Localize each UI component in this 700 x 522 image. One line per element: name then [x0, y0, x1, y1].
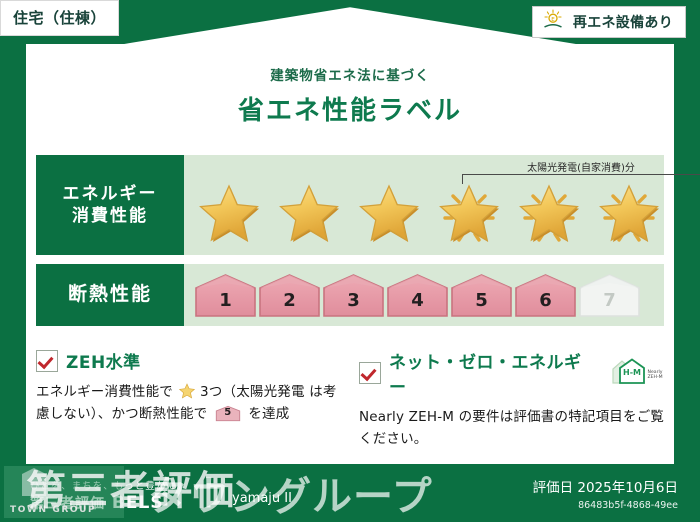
- insulation-rating-panel: 1 2: [184, 264, 664, 326]
- zeh-text-part1: エネルギー消費性能で: [36, 384, 173, 400]
- svg-text:H-M: H-M: [623, 368, 641, 377]
- zeh-m-logo-icon: H-M Nearly ZEH-M: [610, 356, 666, 390]
- net-zero-heading: ネット・ゼロ・エネルギー H-M Nearly ZEH-M: [359, 348, 666, 398]
- house-icon-active: 5: [450, 272, 513, 318]
- energy-rating-panel: 太陽光発電(自家消費)分: [184, 155, 664, 255]
- house-level-number: 6: [514, 290, 577, 311]
- house-icon-active: 2: [258, 272, 321, 318]
- energy-label-line1: エネルギー: [63, 183, 158, 205]
- zeh-text-part4: を達成: [248, 406, 289, 422]
- star-icon-solar: [510, 177, 588, 251]
- house-icon-active: 6: [514, 272, 577, 318]
- house-level-number: 2: [258, 290, 321, 311]
- page-title: 省エネ性能ラベル: [0, 90, 700, 127]
- house-icon-active: 4: [386, 272, 449, 318]
- house-level-number: 7: [578, 290, 641, 311]
- statement-zeh: ZEH水準 エネルギー消費性能で 3つ（太陽光発電 は考慮しない）、かつ断熱性能…: [36, 348, 343, 451]
- inline-house-icon: 5: [215, 405, 241, 422]
- evaluation-date-value: 2025年10月6日: [577, 480, 678, 496]
- zeh-title: ZEH水準: [66, 348, 141, 373]
- zeh-text-part2: 3つ（太陽光発電: [200, 384, 305, 400]
- house-level-number: 5: [450, 290, 513, 311]
- insulation-performance-label: 断熱性能: [36, 264, 184, 326]
- house-icon-active: 3: [322, 272, 385, 318]
- evaluation-date: 評価日 2025年10月6日: [533, 476, 678, 496]
- star-rating: [184, 177, 670, 251]
- energy-label-card: 住宅（住棟） E 再エネ設備あり 建築物省エネ法に基づく 省エネ性能ラベル: [0, 0, 700, 522]
- inline-house-number: 5: [215, 405, 241, 421]
- sun-icon: E: [542, 9, 566, 35]
- zeh-heading: ZEH水準: [36, 348, 343, 373]
- statement-net-zero: ネット・ゼロ・エネルギー H-M Nearly ZEH-M Nearly ZEH…: [359, 348, 666, 451]
- energy-label-line2: 消費性能: [72, 205, 148, 227]
- energy-performance-label: エネルギー 消費性能: [36, 155, 184, 255]
- star-icon: [270, 177, 348, 251]
- evaluation-date-label: 評価日: [533, 480, 574, 496]
- house-level-number: 3: [322, 290, 385, 311]
- net-zero-title: ネット・ゼロ・エネルギー: [389, 348, 598, 398]
- house-rating: 1 2: [184, 272, 641, 318]
- footer-right: 評価日 2025年10月6日 86483b5f-4868-49ee: [533, 476, 678, 511]
- net-zero-description: Nearly ZEH-M の要件は評価書の特記項目をご覧ください。: [359, 407, 666, 451]
- house-level-number: 1: [194, 290, 257, 311]
- insulation-performance-row: 断熱性能 1: [36, 264, 664, 326]
- renewable-energy-badge: E 再エネ設備あり: [532, 6, 686, 38]
- svg-text:ZEH-M: ZEH-M: [647, 374, 662, 380]
- evaluation-id: 86483b5f-4868-49ee: [533, 500, 678, 511]
- star-icon-solar: [590, 177, 668, 251]
- watermark-text-secondary: タウングループ: [148, 464, 433, 522]
- house-icon-active: 1: [194, 272, 257, 318]
- title-block: 建築物省エネ法に基づく 省エネ性能ラベル: [0, 64, 700, 127]
- house-icon-inactive: 7: [578, 272, 641, 318]
- renewable-energy-label: 再エネ設備あり: [573, 12, 673, 32]
- statements-section: ZEH水準 エネルギー消費性能で 3つ（太陽光発電 は考慮しない）、かつ断熱性能…: [36, 348, 666, 451]
- zeh-checkbox[interactable]: [36, 350, 58, 372]
- energy-performance-row: エネルギー 消費性能 太陽光発電(自家消費)分: [36, 155, 664, 255]
- net-zero-checkbox[interactable]: [359, 362, 381, 384]
- insulation-label-text: 断熱性能: [68, 282, 152, 307]
- star-icon: [190, 177, 268, 251]
- building-type-label: 住宅（住棟）: [13, 9, 106, 27]
- title-subtitle: 建築物省エネ法に基づく: [0, 64, 700, 84]
- svg-text:E: E: [551, 17, 555, 23]
- inline-star-icon: [179, 383, 195, 399]
- building-type-tag: 住宅（住棟）: [0, 0, 119, 36]
- zeh-description: エネルギー消費性能で 3つ（太陽光発電 は考慮しない）、かつ断熱性能で 5 を達…: [36, 382, 343, 426]
- house-level-number: 4: [386, 290, 449, 311]
- star-icon-solar: [430, 177, 508, 251]
- solar-annotation-text: 太陽光発電(自家消費)分: [456, 159, 700, 174]
- star-icon: [350, 177, 428, 251]
